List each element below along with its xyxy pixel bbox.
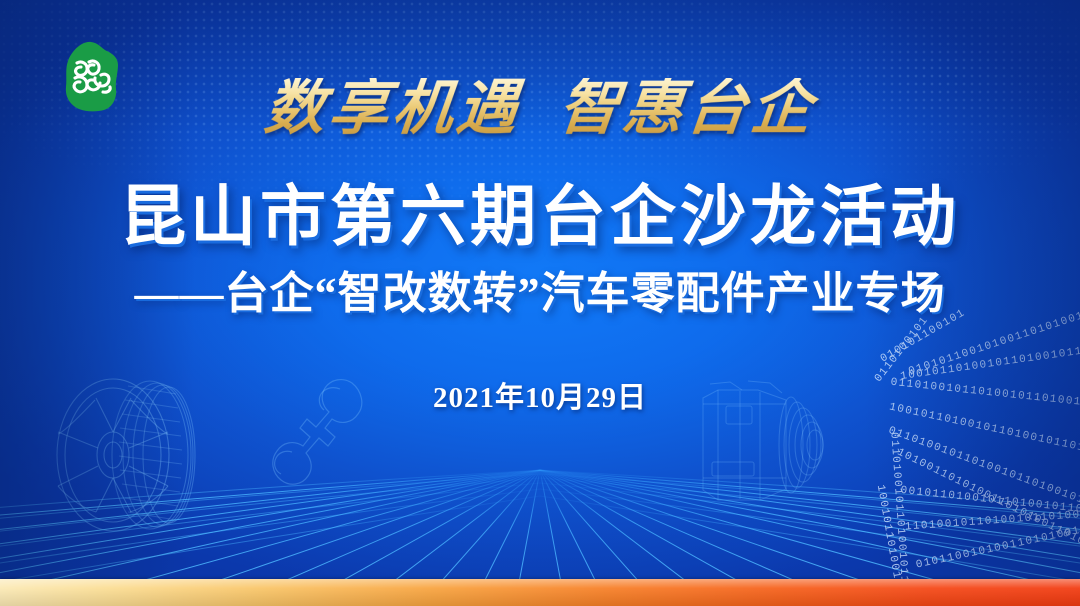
page-title: 昆山市第六期台企沙龙活动: [0, 180, 1080, 257]
page-subtitle: ——台企“智改数转”汽车零配件产业专场: [0, 268, 1080, 321]
bottom-accent-bar: [0, 579, 1080, 606]
headline-gold: 数享机遇 智惠台企: [0, 78, 1080, 138]
event-date: 2021年10月29日: [0, 374, 1080, 416]
event-banner: 01010110010100110101001101011001010 1001…: [0, 0, 1080, 606]
